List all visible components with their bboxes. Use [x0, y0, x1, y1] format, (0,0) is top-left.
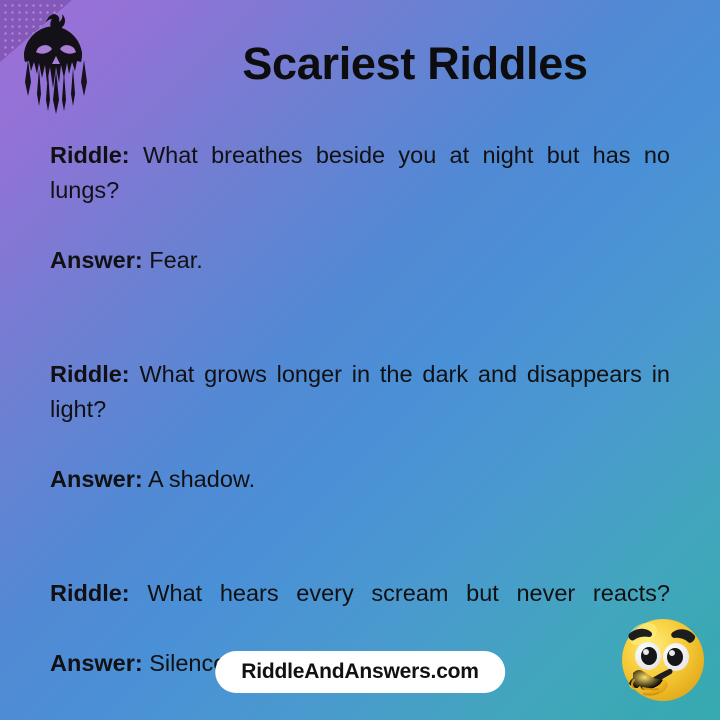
riddle-label: Riddle: — [50, 580, 130, 606]
website-badge[interactable]: RiddleAndAnswers.com — [215, 651, 505, 693]
riddle-block: Riddle: What breathes beside you at nigh… — [50, 138, 670, 278]
riddle-label: Riddle: — [50, 142, 130, 168]
riddle-answer-text: Fear. — [149, 247, 203, 273]
riddle-answer-line: Answer: Fear. — [50, 243, 670, 278]
riddle-question-line: Riddle: What grows longer in the dark an… — [50, 357, 670, 462]
poster-canvas: Scariest Riddles Riddle: What breathes b… — [0, 0, 720, 720]
page-title: Scariest Riddles — [110, 0, 720, 128]
answer-label: Answer: — [50, 650, 143, 676]
riddle-question-line: Riddle: What breathes beside you at nigh… — [50, 138, 670, 243]
thinking-face-emoji — [607, 606, 719, 718]
riddle-answer-text: A shadow. — [148, 466, 255, 492]
riddle-list: Riddle: What breathes beside you at nigh… — [50, 138, 670, 681]
riddle-question-line: Riddle: What hears every scream but neve… — [50, 576, 670, 646]
answer-label: Answer: — [50, 466, 143, 492]
riddle-question-text: What hears every scream but never reacts… — [147, 580, 670, 606]
riddle-answer-line: Answer: A shadow. — [50, 462, 670, 497]
riddle-question-text: What breathes beside you at night but ha… — [50, 142, 670, 203]
answer-label: Answer: — [50, 247, 143, 273]
poster-header: Scariest Riddles — [0, 0, 720, 128]
jack-o-lantern-icon — [14, 10, 98, 114]
riddle-block: Riddle: What grows longer in the dark an… — [50, 357, 670, 497]
riddle-question-text: What grows longer in the dark and disapp… — [50, 361, 670, 422]
website-badge-label: RiddleAndAnswers.com — [241, 660, 479, 684]
riddle-label: Riddle: — [50, 361, 130, 387]
